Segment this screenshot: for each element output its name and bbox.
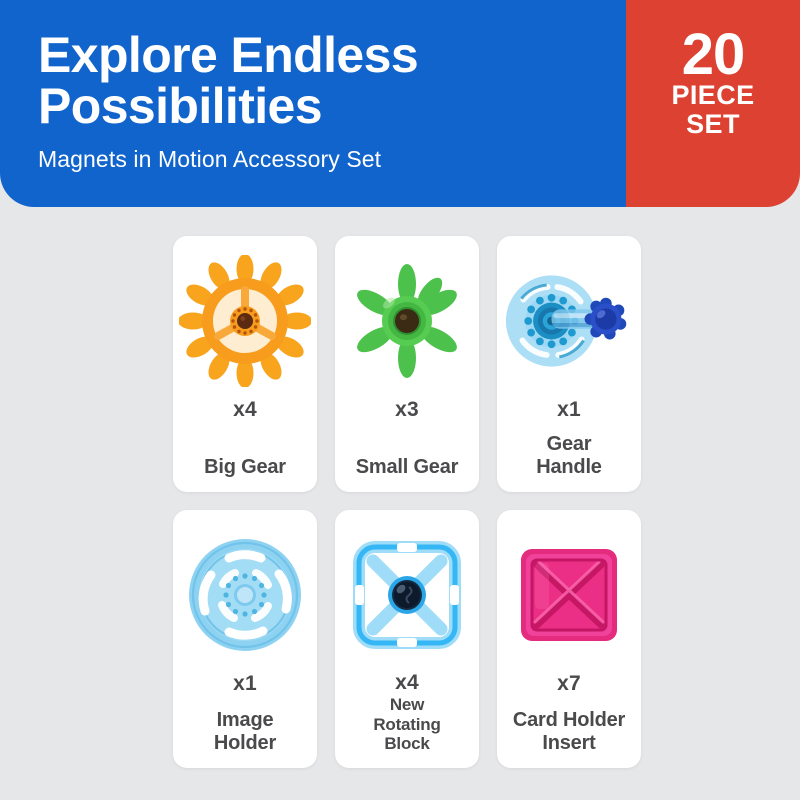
product-quantity: x3	[395, 398, 419, 422]
page-subtitle: Magnets in Motion Accessory Set	[38, 146, 626, 173]
product-quantity: x1	[557, 398, 581, 422]
product-card-gear-handle[interactable]: x1 Gear Handle	[497, 236, 641, 492]
small-gear-icon	[341, 246, 473, 396]
product-name: New Rotating Block	[373, 695, 440, 754]
product-quantity: x4	[395, 671, 419, 695]
piece-count-number: 20	[682, 28, 745, 81]
page-title: Explore Endless Possibilities	[38, 30, 626, 132]
product-quantity: x1	[233, 672, 257, 696]
product-quantity: x7	[557, 672, 581, 696]
set-label: SET	[686, 110, 740, 139]
piece-count-badge: 20 PIECE SET	[626, 0, 800, 207]
banner-blue-panel: Explore Endless Possibilities Magnets in…	[0, 0, 626, 207]
product-grid: x4 Big Gear	[173, 236, 641, 768]
product-name: Image Holder	[214, 709, 276, 754]
product-card-small-gear[interactable]: x3 Small Gear	[335, 236, 479, 492]
product-card-rotating-block[interactable]: x4 New Rotating Block	[335, 510, 479, 768]
rotating-block-icon	[341, 520, 473, 669]
product-quantity: x4	[233, 398, 257, 422]
piece-label: PIECE	[671, 81, 754, 110]
product-card-image-holder[interactable]: x1 Image Holder	[173, 510, 317, 768]
product-name: Gear Handle	[536, 433, 601, 478]
product-name: Big Gear	[204, 456, 286, 478]
header-banner: Explore Endless Possibilities Magnets in…	[0, 0, 800, 207]
product-card-card-holder-insert[interactable]: x7 Card Holder Insert	[497, 510, 641, 768]
gear-handle-icon	[503, 246, 635, 396]
card-holder-insert-icon	[503, 520, 635, 670]
product-name: Card Holder Insert	[513, 709, 625, 754]
image-holder-icon	[179, 520, 311, 670]
big-gear-icon	[179, 246, 311, 396]
product-name: Small Gear	[356, 456, 459, 478]
product-card-big-gear[interactable]: x4 Big Gear	[173, 236, 317, 492]
